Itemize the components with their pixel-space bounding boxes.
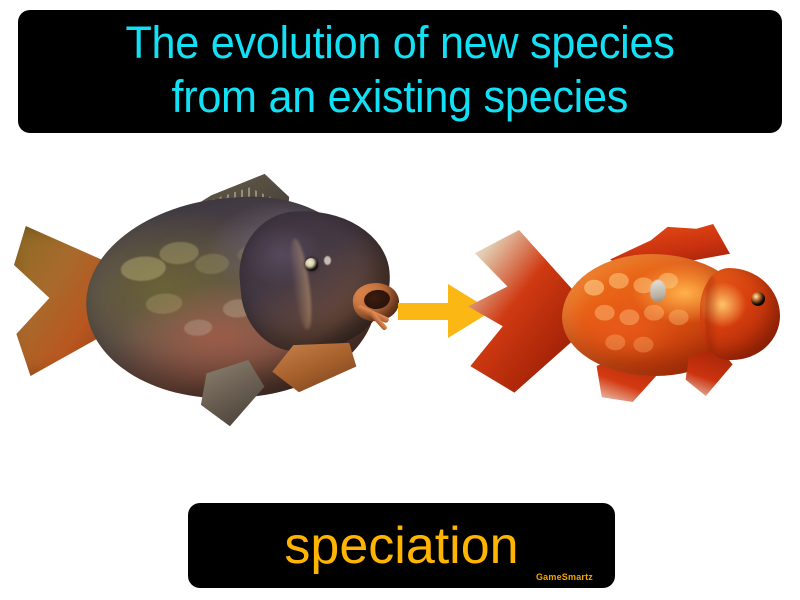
term-banner: speciation GameSmartz <box>188 503 615 588</box>
definition-line-2: from an existing species <box>172 70 629 124</box>
carp-eye <box>305 258 318 271</box>
carp-head <box>234 204 396 357</box>
term-label: speciation <box>284 518 518 574</box>
definition-line-1: The evolution of new species <box>125 16 674 70</box>
definition-banner: The evolution of new species from an exi… <box>18 10 782 133</box>
goldfish-illustration <box>462 224 792 404</box>
goldfish-gill-cover <box>705 276 719 352</box>
speciation-definition-card: The evolution of new species from an exi… <box>0 0 800 600</box>
goldfish-eye <box>751 292 765 306</box>
arrow-shaft <box>398 303 454 320</box>
carp-illustration <box>8 170 398 430</box>
illustration-stage <box>0 140 800 495</box>
carp-nostril <box>324 256 331 265</box>
watermark-label: GameSmartz <box>536 572 593 582</box>
